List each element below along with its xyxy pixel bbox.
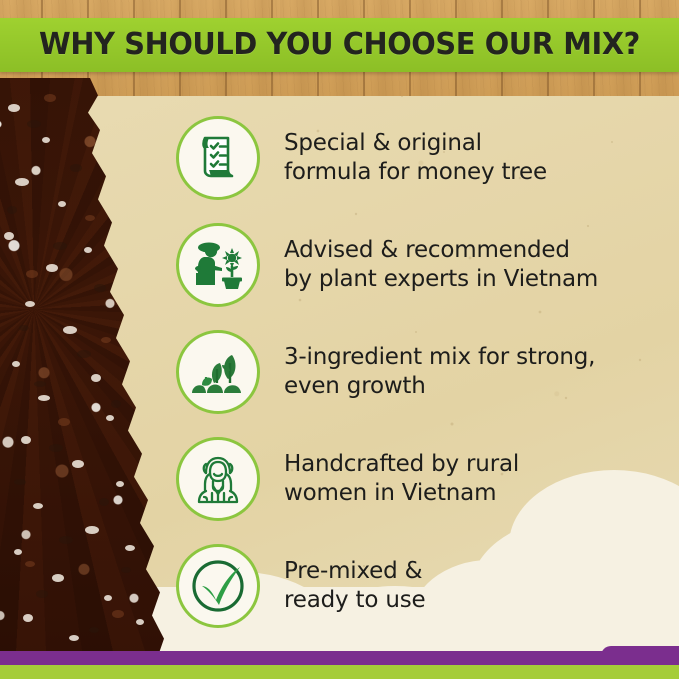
feature-line-1: 3-ingredient mix for strong, xyxy=(284,344,595,370)
header-banner: WHY SHOULD YOU CHOOSE OUR MIX? xyxy=(0,18,679,72)
promo-poster: WHY SHOULD YOU CHOOSE OUR MIX? xyxy=(0,0,679,679)
feature-text: Handcrafted by rural women in Vietnam xyxy=(284,450,519,506)
feature-line-2: even growth xyxy=(284,372,595,400)
feature-row: Advised & recommended by plant experts i… xyxy=(176,211,679,318)
feature-text: Pre-mixed & ready to use xyxy=(284,557,425,613)
feature-text: Advised & recommended by plant experts i… xyxy=(284,236,598,292)
footer-purple-bar xyxy=(0,646,679,665)
footer-green-bar xyxy=(0,665,679,679)
feature-row: Special & original formula for money tre… xyxy=(176,104,679,211)
rural-woman-icon xyxy=(192,453,244,505)
feature-row: 3-ingredient mix for strong, even growth xyxy=(176,318,679,425)
feature-row: Pre-mixed & ready to use xyxy=(176,532,679,639)
feature-line-2: by plant experts in Vietnam xyxy=(284,265,598,293)
page-title: WHY SHOULD YOU CHOOSE OUR MIX? xyxy=(14,18,666,72)
feature-line-2: women in Vietnam xyxy=(284,479,519,507)
feature-icon-badge xyxy=(176,223,260,307)
check-circle-icon xyxy=(189,557,247,615)
three-seedlings-icon xyxy=(190,349,246,395)
feature-list: Special & original formula for money tre… xyxy=(176,104,679,639)
feature-icon-badge xyxy=(176,544,260,628)
soil-mix-photo xyxy=(0,78,168,656)
feature-line-1: Handcrafted by rural xyxy=(284,451,519,477)
feature-text: Special & original formula for money tre… xyxy=(284,129,547,185)
feature-icon-badge xyxy=(176,437,260,521)
feature-icon-badge xyxy=(176,330,260,414)
gardener-watering-plant-icon xyxy=(191,239,245,291)
footer-purple-step xyxy=(601,646,679,665)
checklist-document-icon xyxy=(193,133,243,183)
feature-line-2: ready to use xyxy=(284,586,425,614)
feature-icon-badge xyxy=(176,116,260,200)
feature-line-1: Advised & recommended xyxy=(284,237,570,263)
soil-shape xyxy=(0,78,168,656)
feature-line-2: formula for money tree xyxy=(284,158,547,186)
footer-purple-main xyxy=(0,651,606,665)
feature-row: Handcrafted by rural women in Vietnam xyxy=(176,425,679,532)
feature-line-1: Pre-mixed & xyxy=(284,558,422,584)
feature-line-1: Special & original xyxy=(284,130,482,156)
feature-text: 3-ingredient mix for strong, even growth xyxy=(284,343,595,399)
